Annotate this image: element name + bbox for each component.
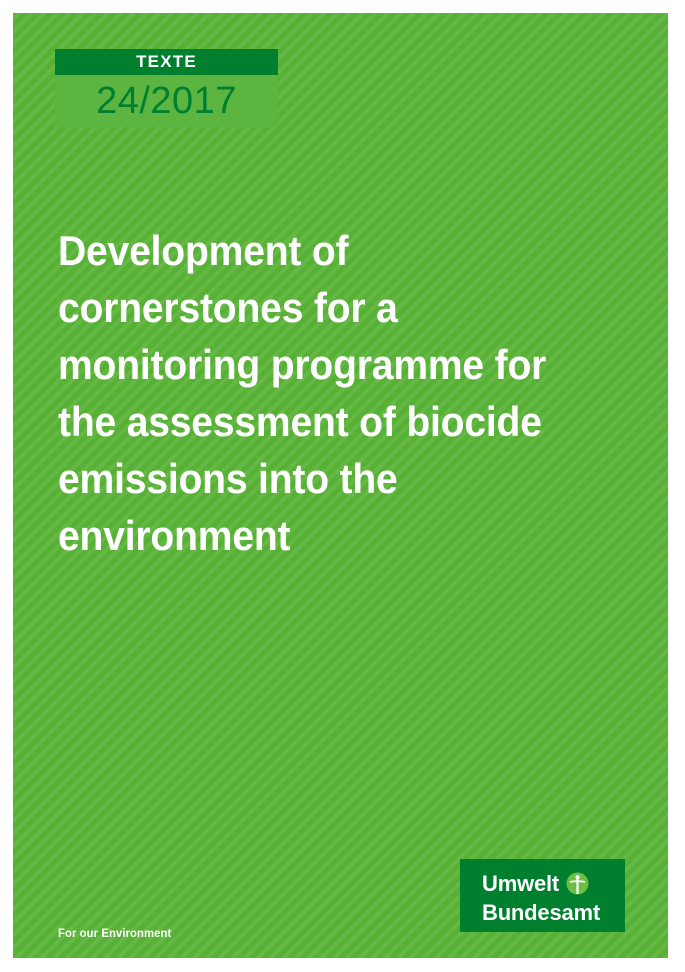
title-line: monitoring programme for (58, 336, 597, 393)
tagline: For our Environment (58, 926, 171, 940)
series-badge: TEXTE 24/2017 (55, 49, 278, 127)
umweltbundesamt-leaf-figure-icon (566, 872, 589, 900)
publisher-name-line-2: Bundesamt (482, 900, 617, 925)
title-line: environment (58, 507, 597, 564)
title-line: the assessment of biocide (58, 393, 597, 450)
issue-number: 24/2017 (55, 75, 278, 127)
publisher-logo-top-row: Umwelt (482, 871, 617, 900)
series-label: TEXTE (55, 49, 278, 75)
publisher-logo-inner: Umwelt Bundesamt (482, 871, 617, 924)
page-title: Development of cornerstones for a monito… (58, 222, 597, 564)
title-line: cornerstones for a (58, 279, 597, 336)
title-line: Development of (58, 222, 597, 279)
document-cover: TEXTE 24/2017 Development of cornerstone… (13, 13, 668, 958)
publisher-name-line-1: Umwelt (482, 871, 559, 896)
publisher-logo: Umwelt Bundesamt (460, 859, 625, 932)
title-line: emissions into the (58, 450, 597, 507)
